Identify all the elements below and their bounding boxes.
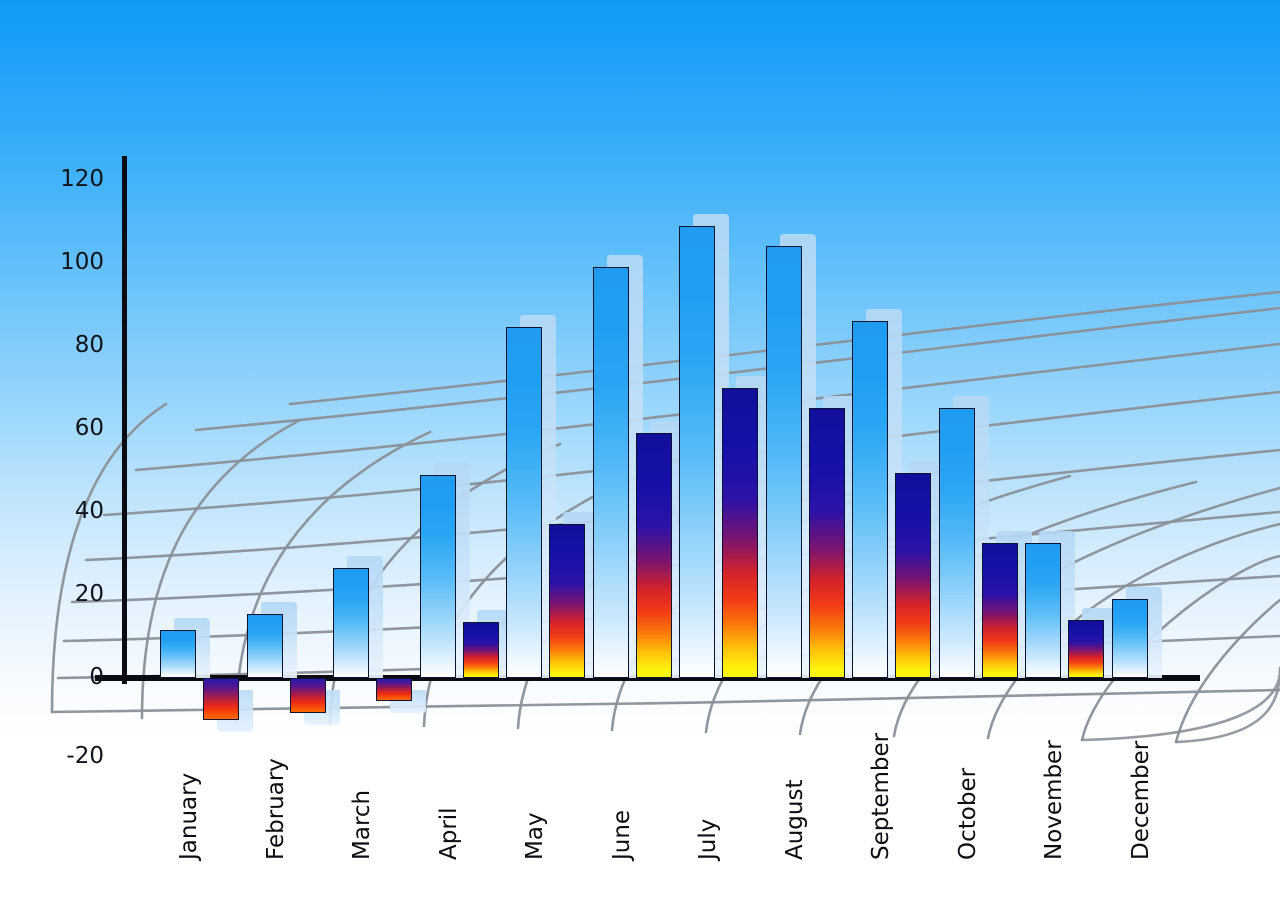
bar-front-face	[463, 622, 499, 678]
x-axis-label-december: December	[1128, 741, 1154, 860]
bar-front-face	[420, 475, 456, 678]
y-axis-tick-label: 40	[42, 500, 104, 523]
bar-front-face	[852, 321, 888, 678]
x-axis-label-january: January	[176, 773, 202, 860]
bar-front-face	[333, 568, 369, 678]
bar-front-face	[809, 408, 845, 678]
bar-front-face	[766, 246, 802, 678]
bar-front-face	[679, 226, 715, 678]
x-axis-label-march: March	[349, 790, 375, 860]
y-axis-tick-label: 20	[42, 583, 104, 606]
x-axis-label-june: June	[609, 810, 635, 860]
y-axis-tick-label: 0	[42, 666, 104, 689]
bar-front-face	[203, 678, 239, 720]
plot-area: -20020406080100120JanuaryFebruaryMarchAp…	[0, 0, 1280, 905]
y-axis-tick-label: 60	[42, 417, 104, 440]
bar-front-face	[593, 267, 629, 678]
bar-front-face	[722, 388, 758, 679]
x-axis-label-february: February	[263, 758, 289, 860]
x-axis-label-september: September	[868, 733, 894, 860]
bar-front-face	[376, 678, 412, 701]
bar-front-face	[160, 630, 196, 678]
x-axis-label-may: May	[522, 812, 548, 860]
bar-front-face	[939, 408, 975, 678]
y-axis-tick-label: 120	[42, 168, 104, 191]
x-axis-label-october: October	[955, 768, 981, 860]
y-axis-tick-label: -20	[42, 745, 104, 768]
bar-front-face	[290, 678, 326, 713]
x-axis-label-august: August	[782, 780, 808, 861]
bar-front-face	[982, 543, 1018, 678]
bar-front-face	[247, 614, 283, 678]
bar-front-face	[636, 433, 672, 678]
y-axis-line	[122, 156, 127, 684]
bar-front-face	[1112, 599, 1148, 678]
bar-front-face	[895, 473, 931, 678]
x-axis-label-july: July	[695, 819, 721, 860]
x-axis-label-november: November	[1041, 740, 1067, 860]
y-axis-tick-label: 100	[42, 251, 104, 274]
bar-front-face	[549, 524, 585, 678]
bar-front-face	[1025, 543, 1061, 678]
y-axis-tick-label: 80	[42, 334, 104, 357]
bar-front-face	[506, 327, 542, 678]
bar-front-face	[1068, 620, 1104, 678]
x-axis-label-april: April	[436, 807, 462, 860]
chart-canvas: -20020406080100120JanuaryFebruaryMarchAp…	[0, 0, 1280, 905]
